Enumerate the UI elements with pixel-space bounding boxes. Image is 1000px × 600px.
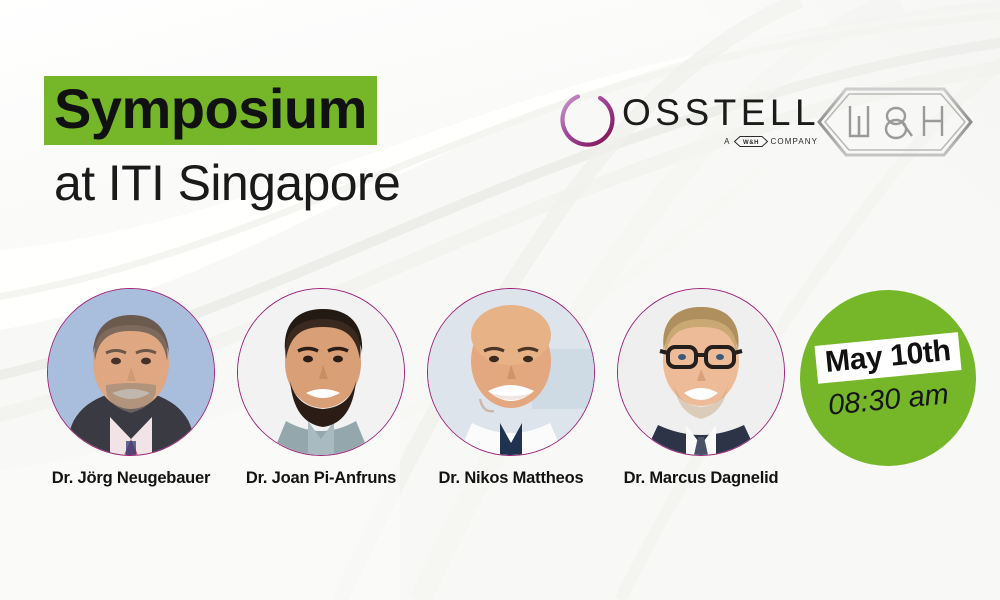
avatar xyxy=(47,288,215,456)
speaker-card: Dr. Marcus Dagnelid xyxy=(606,288,796,488)
speaker-name: Dr. Nikos Mattheos xyxy=(439,469,584,488)
speaker-name: Dr. Joan Pi-Anfruns xyxy=(246,469,396,488)
event-date: May 10th xyxy=(815,332,962,383)
tagline-prefix: A xyxy=(724,137,730,146)
osstell-text-block: OSSTELL A W&H COMPANY xyxy=(622,94,820,147)
speaker-name: Dr. Jörg Neugebauer xyxy=(52,469,211,488)
hexagon-outline-icon xyxy=(819,89,971,155)
speaker-card: Dr. Nikos Mattheos xyxy=(416,288,606,488)
date-badge: May 10th 08:30 am xyxy=(800,290,976,466)
avatar xyxy=(617,288,785,456)
avatar xyxy=(427,288,595,456)
speaker-card: Dr. Joan Pi-Anfruns xyxy=(226,288,416,488)
svg-text:W&H: W&H xyxy=(743,140,759,146)
portrait-photo-4 xyxy=(618,289,784,455)
tagline-suffix: COMPANY xyxy=(771,137,819,146)
osstell-tagline: A W&H COMPANY xyxy=(724,136,818,147)
osstell-logo: OSSTELL A W&H COMPANY xyxy=(556,84,820,156)
speaker-card: Dr. Jörg Neugebauer xyxy=(36,288,226,488)
wh-wordmark xyxy=(850,106,942,138)
portrait-photo-3 xyxy=(428,289,594,455)
portrait-photo-2 xyxy=(238,289,404,455)
osstell-wordmark: OSSTELL xyxy=(622,94,820,131)
osstell-ring-icon xyxy=(556,89,618,151)
event-time: 08:30 am xyxy=(826,378,950,422)
speakers-row: Dr. Jörg Neugebauer xyxy=(36,288,796,488)
wh-logo xyxy=(816,86,974,158)
portrait-photo-1 xyxy=(48,289,214,455)
wh-badge-icon: W&H xyxy=(734,136,768,147)
speaker-name: Dr. Marcus Dagnelid xyxy=(624,469,779,488)
symposium-banner: Symposium at ITI Singapore OSSTELL A W&H xyxy=(0,0,1000,600)
page-title-highlight: Symposium xyxy=(44,76,377,145)
headline-block: Symposium at ITI Singapore xyxy=(44,76,564,210)
avatar xyxy=(237,288,405,456)
page-subtitle: at ITI Singapore xyxy=(44,157,564,210)
